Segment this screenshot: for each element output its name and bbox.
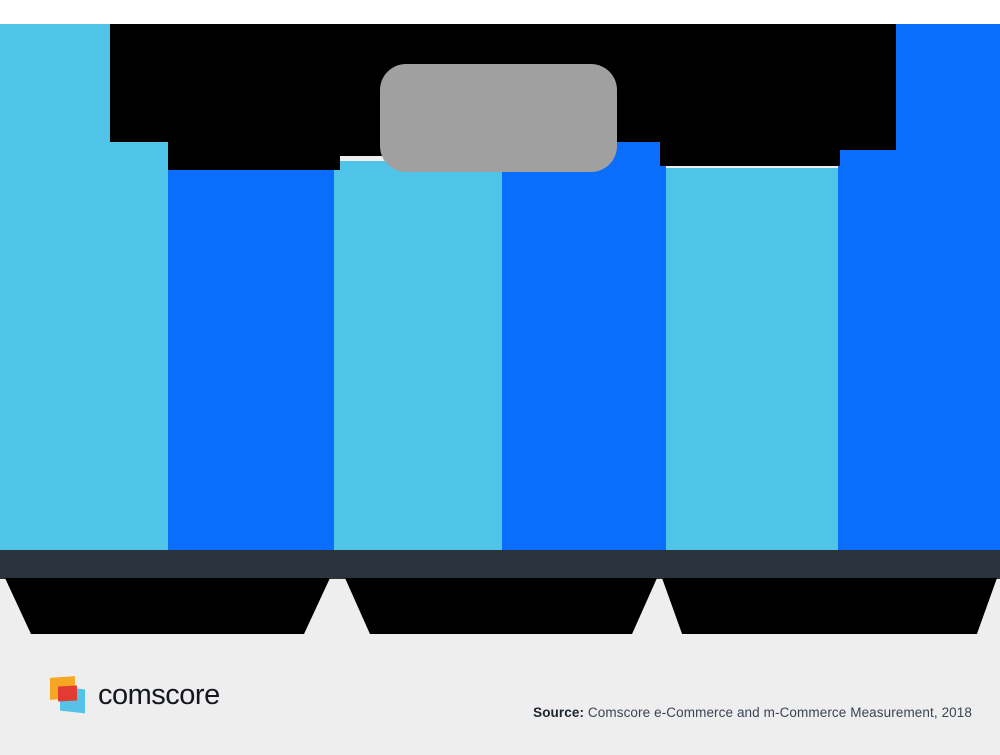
source-label: Source: (533, 705, 584, 720)
redacted-category-label-2 (662, 578, 997, 634)
axis-baseline-band (0, 550, 1000, 579)
infographic-page: comscore Source: Comscore e-Commerce and… (0, 0, 1000, 755)
logo-red-shape (58, 686, 77, 702)
redacted-title-extension-right (660, 142, 840, 166)
bar-group-2-series-0[interactable] (666, 168, 838, 550)
source-attribution: Source: Comscore e-Commerce and m-Commer… (533, 705, 972, 720)
bar-group-1-series-0[interactable] (334, 161, 502, 550)
comscore-logo[interactable]: comscore (50, 675, 220, 715)
redacted-title-extension-left (168, 142, 340, 170)
redacted-category-label-0 (5, 578, 330, 634)
comscore-logo-icon (50, 675, 86, 715)
footer: comscore Source: Comscore e-Commerce and… (0, 650, 1000, 755)
redacted-legend-block-lower (398, 142, 598, 172)
chart-plot-area (0, 24, 1000, 550)
bar-group-0-series-1[interactable] (168, 141, 334, 550)
source-text: Comscore e-Commerce and m-Commerce Measu… (588, 705, 972, 720)
comscore-logo-text: comscore (98, 679, 220, 712)
redacted-category-label-1 (345, 578, 657, 634)
bar-group-1-series-1[interactable] (502, 136, 666, 550)
top-white-strip (0, 0, 1000, 24)
redacted-title-extension-far-right (838, 24, 896, 150)
